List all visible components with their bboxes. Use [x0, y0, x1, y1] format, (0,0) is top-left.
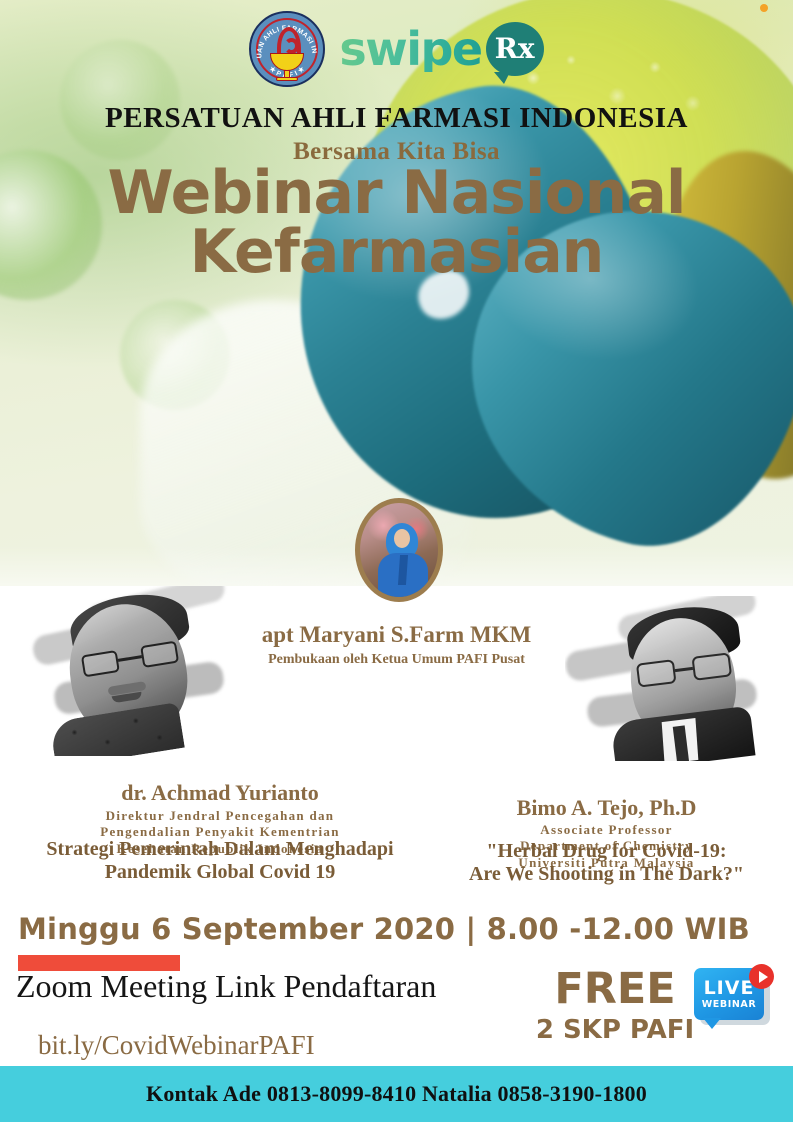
page-title: Webinar Nasional Kefarmasian — [0, 165, 793, 281]
glasses-bridge — [675, 667, 693, 672]
registration-link[interactable]: bit.ly/CovidWebinarPAFI — [38, 1030, 315, 1061]
face-shape — [394, 529, 410, 548]
play-button-icon — [749, 964, 774, 989]
left-speaker-topic: Strategi Pemerintah Dalam Menghadapi Pan… — [0, 838, 440, 884]
contact-footer: Kontak Ade 0813-8099-8410 Natalia 0858-3… — [0, 1066, 793, 1122]
pafi-logo: PERSATUAN AHLI FARMASI INDONESIA ★ P A F… — [249, 11, 325, 87]
bowl-base — [276, 77, 298, 81]
right-speaker-name: Bimo A. Tejo, Ph.D — [420, 795, 793, 821]
swipe-i-dot-icon — [760, 4, 768, 12]
live-webinar-badge: LIVE WEBINAR — [694, 968, 772, 1030]
contact-text: Kontak Ade 0813-8099-8410 Natalia 0858-3… — [146, 1081, 647, 1107]
lens-left — [636, 659, 677, 687]
organization-name: PERSATUAN AHLI FARMASI INDONESIA — [0, 102, 793, 135]
swiperx-logo: swipe Rx — [339, 22, 543, 76]
title-line-2: Kefarmasian — [0, 224, 793, 281]
rx-label: Rx — [495, 35, 535, 63]
swiperx-wordmark: swipe — [339, 26, 481, 72]
live-label: LIVE — [704, 979, 755, 998]
rx-speech-bubble-icon: Rx — [486, 22, 544, 76]
right-speaker-photo — [565, 596, 780, 761]
lens-right — [691, 652, 732, 680]
glasses-bridge — [118, 655, 142, 661]
webinar-label: WEBINAR — [702, 1000, 757, 1010]
free-label: FREE — [525, 968, 705, 1011]
avatar-photo — [360, 503, 438, 597]
webinar-poster: PERSATUAN AHLI FARMASI INDONESIA ★ P A F… — [0, 0, 793, 1122]
left-speaker-name: dr. Achmad Yurianto — [0, 780, 440, 806]
left-speaker-photo — [26, 586, 246, 756]
schedule-dateline: Minggu 6 September 2020 | 8.00 -12.00 WI… — [18, 912, 778, 946]
right-speaker-topic: "Herbal Drug for Covid-19: Are We Shooti… — [420, 840, 793, 886]
registration-platform-label: Zoom Meeting Link Pendaftaran — [16, 968, 436, 1005]
pricing-block: FREE 2 SKP PAFI — [525, 968, 705, 1045]
logo-row: PERSATUAN AHLI FARMASI INDONESIA ★ P A F… — [0, 6, 793, 92]
center-speaker-avatar — [355, 498, 443, 602]
skp-credits-label: 2 SKP PAFI — [525, 1015, 705, 1045]
